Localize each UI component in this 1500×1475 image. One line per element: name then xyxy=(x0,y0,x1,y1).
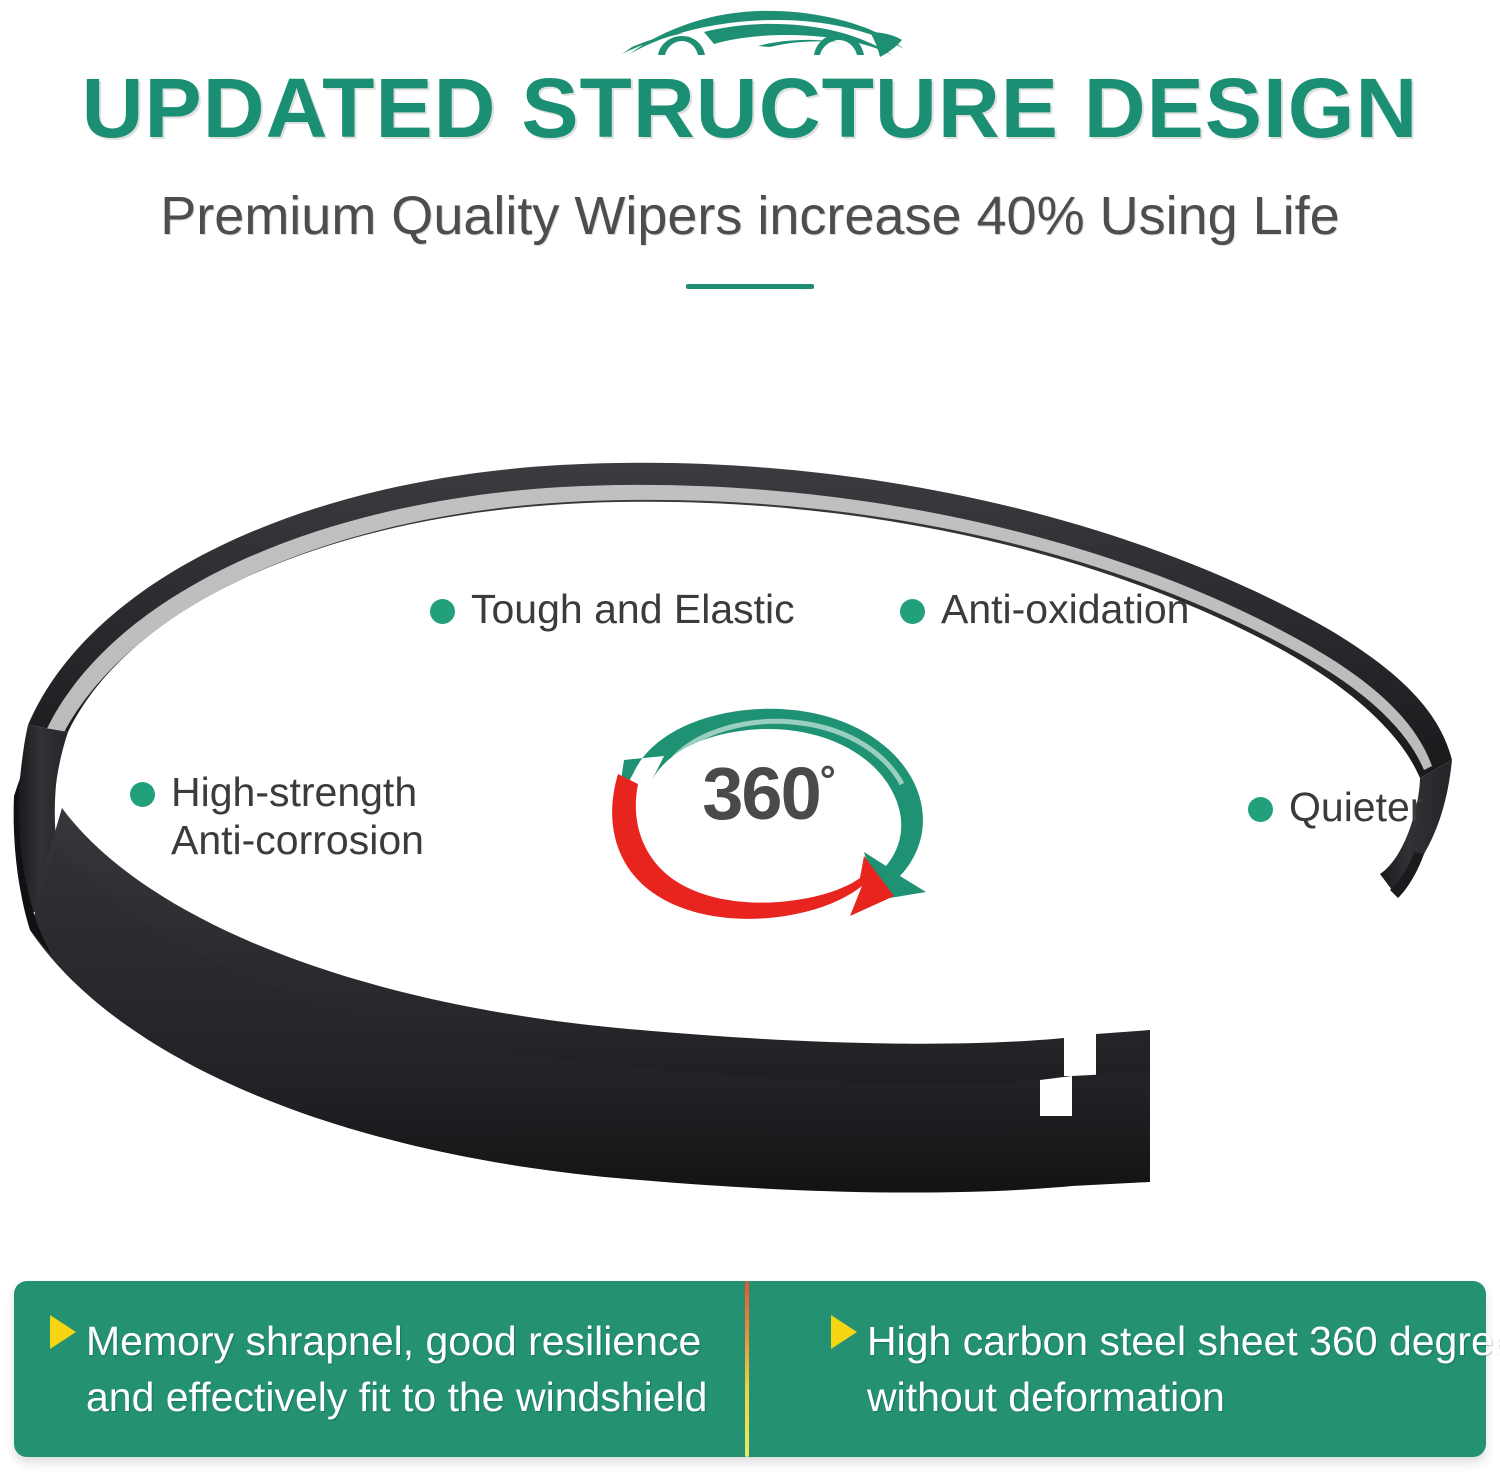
bullet-dot-icon xyxy=(130,782,155,807)
degree-symbol: ° xyxy=(820,758,834,802)
callout-anti-oxidation: Anti-oxidation xyxy=(900,585,1189,633)
badge-360-text: 360° xyxy=(578,752,958,836)
yellow-triangle-bullet-icon xyxy=(50,1315,76,1349)
product-infographic-page: UPDATED STRUCTURE DESIGN Premium Quality… xyxy=(0,0,1500,1475)
callout-line: Anti-corrosion xyxy=(171,816,424,864)
callout-line: Anti-oxidation xyxy=(941,585,1189,633)
bullet-dot-icon xyxy=(900,599,925,624)
banner-line: Memory shrapnel, good resilience xyxy=(86,1313,707,1369)
callout-line: Quieter xyxy=(1289,783,1423,831)
yellow-triangle-bullet-icon xyxy=(831,1315,857,1349)
rotation-360-badge: 360° xyxy=(578,700,958,930)
banner-text: Memory shrapnel, good resilience and eff… xyxy=(86,1313,707,1425)
callout-quieter: Quieter xyxy=(1248,783,1423,831)
car-silhouette-logo xyxy=(608,2,908,64)
page-subtitle: Premium Quality Wipers increase 40% Usin… xyxy=(0,183,1500,249)
callout-label: High-strength Anti-corrosion xyxy=(171,768,424,864)
callout-line: Tough and Elastic xyxy=(471,585,795,633)
callout-line: High-strength xyxy=(171,768,424,816)
banner-line: High carbon steel sheet 360 degrees xyxy=(867,1313,1500,1369)
banner-panel-memory-shrapnel: Memory shrapnel, good resilience and eff… xyxy=(14,1281,745,1457)
page-title: UPDATED STRUCTURE DESIGN xyxy=(0,62,1500,154)
callout-high-strength-anti-corrosion: High-strength Anti-corrosion xyxy=(130,768,424,864)
callout-label: Tough and Elastic xyxy=(471,585,795,633)
bullet-dot-icon xyxy=(1248,797,1273,822)
callout-label: Quieter xyxy=(1289,783,1423,831)
title-underline-rule xyxy=(686,284,814,289)
banner-divider xyxy=(745,1281,749,1457)
banner-text: High carbon steel sheet 360 degrees with… xyxy=(867,1313,1500,1425)
callout-label: Anti-oxidation xyxy=(941,585,1189,633)
banner-line: and effectively fit to the windshield xyxy=(86,1369,707,1425)
callout-tough-and-elastic: Tough and Elastic xyxy=(430,585,795,633)
feature-banner: Memory shrapnel, good resilience and eff… xyxy=(14,1281,1486,1457)
bullet-dot-icon xyxy=(430,599,455,624)
badge-number: 360 xyxy=(702,752,819,835)
banner-line: without deformation xyxy=(867,1369,1500,1425)
banner-panel-high-carbon-steel: High carbon steel sheet 360 degrees with… xyxy=(745,1281,1500,1457)
